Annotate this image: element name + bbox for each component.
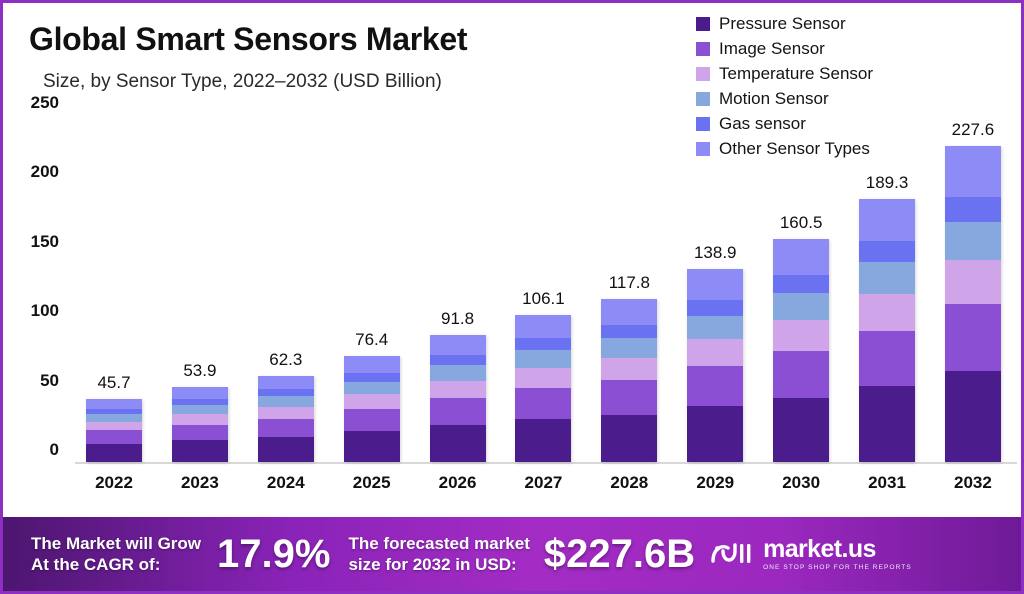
x-axis-tick-2030: 2030 (768, 473, 834, 493)
x-axis-tick-2026: 2026 (425, 473, 491, 493)
forecast-block: The forecasted market size for 2032 in U… (348, 532, 695, 577)
bar-segment-other-sensor-types[interactable] (344, 356, 400, 373)
forecast-label-line2: size for 2032 in USD: (348, 554, 529, 575)
bar-segment-pressure-sensor[interactable] (430, 425, 486, 462)
bar-segment-image-sensor[interactable] (172, 425, 228, 441)
chart-subtitle: Size, by Sensor Type, 2022–2032 (USD Bil… (43, 71, 442, 93)
bar-segment-pressure-sensor[interactable] (601, 415, 657, 462)
y-axis-tick: 250 (31, 93, 59, 113)
legend-item-motion-sensor[interactable]: Motion Sensor (696, 86, 873, 111)
bar-stack (945, 146, 1001, 462)
legend-swatch-icon (696, 17, 710, 31)
x-axis-tick-2032: 2032 (940, 473, 1006, 493)
bar-group-2023[interactable]: 53.9 (167, 115, 233, 462)
bar-total-label: 138.9 (694, 243, 737, 263)
logo-name: market.us (763, 537, 912, 562)
bar-segment-motion-sensor[interactable] (430, 365, 486, 380)
bar-segment-gas-sensor[interactable] (945, 197, 1001, 222)
bar-segment-temperature-sensor[interactable] (859, 294, 915, 331)
bar-segment-gas-sensor[interactable] (773, 275, 829, 293)
legend-label: Temperature Sensor (719, 64, 873, 84)
market-us-logo-mark-icon (709, 539, 755, 569)
forecast-label: The forecasted market size for 2032 in U… (348, 533, 529, 576)
bar-stack (258, 376, 314, 462)
bar-segment-gas-sensor[interactable] (515, 338, 571, 350)
legend-swatch-icon (696, 67, 710, 81)
bottom-banner: The Market will Grow At the CAGR of: 17.… (3, 517, 1024, 591)
y-axis-tick: 100 (31, 301, 59, 321)
bar-stack (773, 239, 829, 462)
market-us-logo-text: market.us ONE STOP SHOP FOR THE REPORTS (763, 537, 912, 572)
bar-segment-temperature-sensor[interactable] (515, 368, 571, 389)
bar-stack (515, 315, 571, 462)
x-axis: 2022202320242025202620272028202920302031… (81, 473, 1006, 493)
x-axis-tick-2028: 2028 (596, 473, 662, 493)
legend-swatch-icon (696, 92, 710, 106)
bar-segment-temperature-sensor[interactable] (430, 381, 486, 399)
legend-item-temperature-sensor[interactable]: Temperature Sensor (696, 61, 873, 86)
bar-total-label: 189.3 (866, 173, 909, 193)
axis-baseline (75, 462, 1017, 464)
bar-segment-pressure-sensor[interactable] (515, 419, 571, 462)
bar-segment-gas-sensor[interactable] (687, 300, 743, 315)
cagr-label: The Market will Grow At the CAGR of: (31, 533, 201, 576)
bar-segment-other-sensor-types[interactable] (859, 199, 915, 241)
bar-group-2027[interactable]: 106.1 (510, 115, 576, 462)
bar-segment-temperature-sensor[interactable] (773, 320, 829, 351)
bar-group-2024[interactable]: 62.3 (253, 115, 319, 462)
bar-stack (859, 199, 915, 462)
bar-segment-pressure-sensor[interactable] (258, 437, 314, 462)
bar-segment-pressure-sensor[interactable] (172, 440, 228, 462)
cagr-value: 17.9% (217, 532, 330, 577)
bar-segment-image-sensor[interactable] (430, 398, 486, 425)
bar-total-label: 227.6 (952, 120, 995, 140)
forecast-value: $227.6B (544, 532, 695, 577)
bar-group-2028[interactable]: 117.8 (596, 115, 662, 462)
bar-segment-image-sensor[interactable] (601, 380, 657, 414)
bar-segment-motion-sensor[interactable] (773, 293, 829, 320)
bar-stack (344, 356, 400, 462)
bar-stack (86, 399, 142, 462)
bar-segment-image-sensor[interactable] (515, 388, 571, 419)
bar-segment-motion-sensor[interactable] (86, 414, 142, 422)
market-us-logo[interactable]: market.us ONE STOP SHOP FOR THE REPORTS (709, 537, 912, 572)
bar-segment-temperature-sensor[interactable] (687, 339, 743, 366)
bar-segment-image-sensor[interactable] (945, 304, 1001, 370)
bar-total-label: 76.4 (355, 330, 388, 350)
bar-group-2031[interactable]: 189.3 (854, 115, 920, 462)
bar-segment-temperature-sensor[interactable] (258, 407, 314, 419)
bar-segment-pressure-sensor[interactable] (86, 444, 142, 462)
bar-segment-pressure-sensor[interactable] (773, 398, 829, 462)
bar-segment-image-sensor[interactable] (258, 419, 314, 437)
bar-segment-other-sensor-types[interactable] (86, 399, 142, 409)
y-axis-tick: 150 (31, 232, 59, 252)
bar-segment-gas-sensor[interactable] (258, 389, 314, 396)
bar-segment-other-sensor-types[interactable] (258, 376, 314, 390)
bar-segment-gas-sensor[interactable] (601, 325, 657, 338)
bar-segment-other-sensor-types[interactable] (430, 335, 486, 356)
bar-segment-gas-sensor[interactable] (430, 355, 486, 365)
x-axis-tick-2022: 2022 (81, 473, 147, 493)
bar-segment-other-sensor-types[interactable] (773, 239, 829, 275)
cagr-label-line1: The Market will Grow (31, 533, 201, 554)
bar-stack (172, 387, 228, 462)
y-axis: 050100150200250 (3, 103, 69, 462)
bar-total-label: 91.8 (441, 309, 474, 329)
legend-swatch-icon (696, 42, 710, 56)
bar-segment-motion-sensor[interactable] (515, 350, 571, 368)
forecast-label-line1: The forecasted market (348, 533, 529, 554)
bar-total-label: 45.7 (97, 373, 130, 393)
bar-group-2022[interactable]: 45.7 (81, 115, 147, 462)
bar-group-2029[interactable]: 138.9 (682, 115, 748, 462)
x-axis-tick-2027: 2027 (510, 473, 576, 493)
y-axis-tick: 200 (31, 162, 59, 182)
bar-segment-pressure-sensor[interactable] (945, 371, 1001, 462)
page-title: Global Smart Sensors Market (29, 21, 467, 58)
bar-segment-other-sensor-types[interactable] (515, 315, 571, 339)
bar-group-2026[interactable]: 91.8 (425, 115, 491, 462)
bar-group-2025[interactable]: 76.4 (339, 115, 405, 462)
bar-total-label: 62.3 (269, 350, 302, 370)
bar-chart-plot: 45.753.962.376.491.8106.1117.8138.9160.5… (81, 115, 1006, 462)
bar-segment-other-sensor-types[interactable] (945, 146, 1001, 197)
legend-item-image-sensor[interactable]: Image Sensor (696, 36, 873, 61)
legend-label: Image Sensor (719, 39, 825, 59)
bar-segment-gas-sensor[interactable] (859, 241, 915, 262)
bar-segment-image-sensor[interactable] (687, 366, 743, 407)
cagr-block: The Market will Grow At the CAGR of: 17.… (31, 532, 330, 577)
bar-total-label: 53.9 (183, 361, 216, 381)
bar-segment-other-sensor-types[interactable] (172, 387, 228, 399)
bar-stack (601, 299, 657, 463)
legend-label: Pressure Sensor (719, 14, 846, 34)
bar-total-label: 117.8 (609, 273, 650, 293)
bar-segment-temperature-sensor[interactable] (86, 422, 142, 431)
y-axis-tick: 0 (50, 440, 59, 460)
bar-segment-gas-sensor[interactable] (344, 373, 400, 381)
bar-group-2032[interactable]: 227.6 (940, 115, 1006, 462)
bar-segment-image-sensor[interactable] (859, 331, 915, 386)
bar-segment-pressure-sensor[interactable] (687, 406, 743, 462)
bar-segment-image-sensor[interactable] (773, 351, 829, 398)
bar-segment-motion-sensor[interactable] (172, 405, 228, 414)
bar-segment-temperature-sensor[interactable] (945, 260, 1001, 304)
x-axis-tick-2025: 2025 (339, 473, 405, 493)
logo-tagline: ONE STOP SHOP FOR THE REPORTS (763, 565, 912, 572)
bar-segment-motion-sensor[interactable] (601, 338, 657, 358)
bar-segment-motion-sensor[interactable] (945, 222, 1001, 260)
bar-total-label: 106.1 (522, 289, 565, 309)
bar-group-2030[interactable]: 160.5 (768, 115, 834, 462)
y-axis-tick: 50 (40, 371, 59, 391)
bar-segment-motion-sensor[interactable] (859, 262, 915, 294)
bar-segment-motion-sensor[interactable] (258, 396, 314, 406)
bar-stack (430, 335, 486, 462)
bar-segment-other-sensor-types[interactable] (601, 299, 657, 325)
bar-segment-image-sensor[interactable] (86, 430, 142, 443)
bar-segment-temperature-sensor[interactable] (172, 414, 228, 424)
infographic-container: Global Smart Sensors Market Size, by Sen… (0, 0, 1024, 594)
bar-segment-pressure-sensor[interactable] (344, 431, 400, 462)
bar-segment-other-sensor-types[interactable] (687, 269, 743, 300)
x-axis-tick-2029: 2029 (682, 473, 748, 493)
x-axis-tick-2023: 2023 (167, 473, 233, 493)
bar-segment-temperature-sensor[interactable] (344, 394, 400, 409)
legend-label: Motion Sensor (719, 89, 829, 109)
bar-segment-motion-sensor[interactable] (344, 382, 400, 395)
bar-segment-pressure-sensor[interactable] (859, 386, 915, 462)
x-axis-tick-2031: 2031 (854, 473, 920, 493)
bar-segment-image-sensor[interactable] (344, 409, 400, 431)
legend-item-pressure-sensor[interactable]: Pressure Sensor (696, 11, 873, 36)
bar-segment-temperature-sensor[interactable] (601, 358, 657, 381)
bar-total-label: 160.5 (780, 213, 823, 233)
bar-segment-motion-sensor[interactable] (687, 316, 743, 339)
cagr-label-line2: At the CAGR of: (31, 554, 201, 575)
x-axis-tick-2024: 2024 (253, 473, 319, 493)
bar-stack (687, 269, 743, 462)
